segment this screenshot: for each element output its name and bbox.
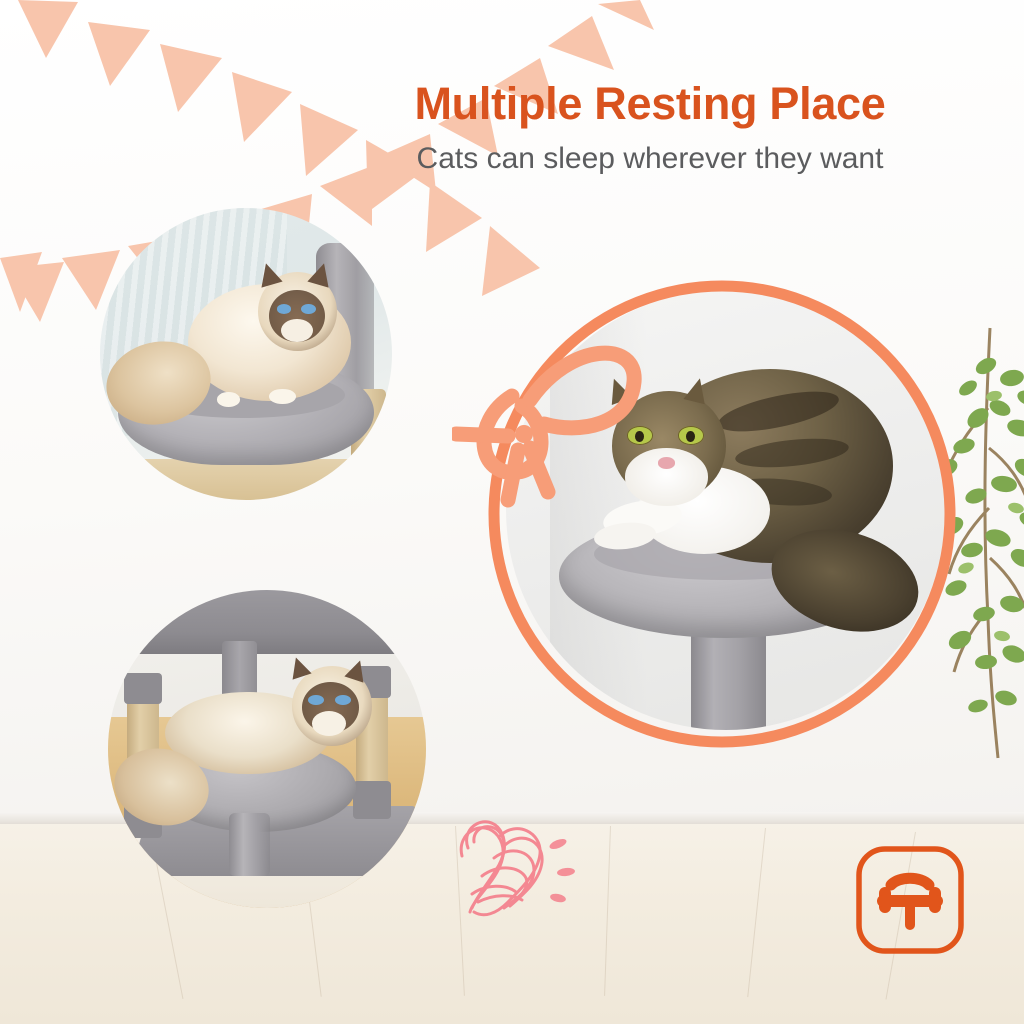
perch-glyph [883, 878, 937, 925]
page-title: Multiple Resting Place [330, 78, 970, 130]
cat-perch-feature-icon[interactable] [853, 843, 967, 957]
scribbled-heart-doodle [438, 806, 588, 932]
photo-top-left [100, 208, 392, 500]
page-subtitle: Cats can sleep wherever they want [330, 142, 970, 176]
infographic-canvas: Multiple Resting Place Cats can sleep wh… [0, 0, 1024, 1024]
photo-main [506, 290, 946, 730]
photo-bottom-left [108, 590, 426, 908]
